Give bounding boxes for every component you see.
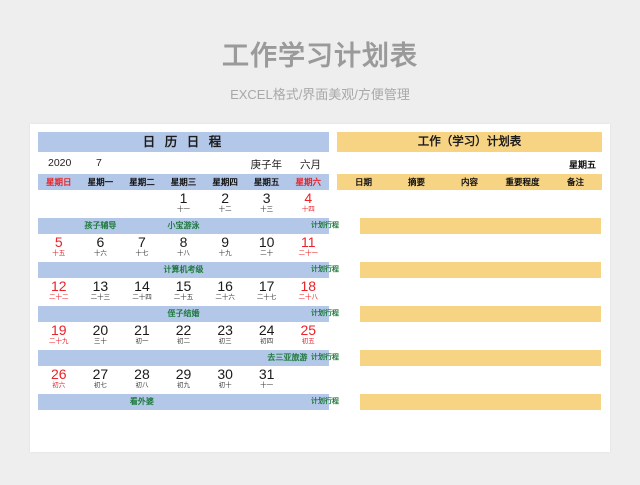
calendar-event-label[interactable]: 看外婆	[80, 394, 205, 410]
calendar-day-number: 7	[121, 235, 163, 250]
calendar-event-label[interactable]: 计算机考级	[80, 262, 288, 278]
calendar-event-row[interactable]: 看外婆	[38, 394, 329, 410]
calendar-day-lunar: 十三	[246, 206, 288, 214]
calendar-day-lunar: 初四	[246, 338, 288, 346]
plan-row: 计划行程	[337, 394, 602, 410]
calendar-date-row: 12二十二13二十三14二十四15二十五16二十六17二十七18二十八	[38, 278, 329, 306]
weekday-friday: 星期五	[246, 174, 288, 190]
calendar-day-cell[interactable]: 22初二	[163, 322, 205, 350]
plan-row-input-area[interactable]	[360, 262, 601, 278]
calendar-day-cell[interactable]: 26初六	[38, 366, 80, 394]
calendar-day-number: 15	[163, 279, 205, 294]
plan-weekday-label: 星期五	[569, 158, 596, 171]
calendar-day-lunar: 初七	[80, 382, 122, 390]
calendar-day-cell[interactable]: 25初五	[287, 322, 329, 350]
calendar-day-number: 28	[121, 367, 163, 382]
calendar-day-cell[interactable]	[121, 190, 163, 218]
calendar-day-cell[interactable]	[38, 190, 80, 218]
calendar-day-cell[interactable]: 6十六	[80, 234, 122, 262]
calendar-day-cell[interactable]: 21初一	[121, 322, 163, 350]
calendar-day-number: 24	[246, 323, 288, 338]
calendar-day-cell[interactable]: 13二十三	[80, 278, 122, 306]
plan-column-summary: 摘要	[390, 174, 443, 190]
calendar-day-lunar: 十四	[287, 206, 329, 214]
plan-column-remark: 备注	[549, 174, 602, 190]
calendar-day-number: 1	[163, 191, 205, 206]
calendar-day-number: 8	[163, 235, 205, 250]
calendar-day-number: 25	[287, 323, 329, 338]
weekday-thursday: 星期四	[204, 174, 246, 190]
calendar-day-lunar: 二十六	[204, 294, 246, 302]
plan-column-importance: 重要程度	[496, 174, 549, 190]
plan-meta: 星期五	[337, 152, 602, 174]
calendar-lunar-month-label: 六月	[300, 157, 321, 172]
calendar-day-number: 13	[80, 279, 122, 294]
calendar-day-cell[interactable]: 31十一	[246, 366, 288, 394]
calendar-day-lunar: 十一	[163, 206, 205, 214]
calendar-day-number: 22	[163, 323, 205, 338]
calendar-day-number: 14	[121, 279, 163, 294]
calendar-day-number: 19	[38, 323, 80, 338]
calendar-day-lunar: 初三	[204, 338, 246, 346]
calendar-day-number: 31	[246, 367, 288, 382]
calendar-day-cell[interactable]: 29初九	[163, 366, 205, 394]
plan-row-label: 计划行程	[311, 262, 351, 278]
plan-row: 计划行程	[337, 262, 602, 278]
calendar-day-lunar: 十一	[246, 382, 288, 390]
plan-row-input-area[interactable]	[360, 218, 601, 234]
calendar-event-row[interactable]: 孩子辅导小宝游泳	[38, 218, 329, 234]
calendar-day-number: 30	[204, 367, 246, 382]
calendar-day-lunar: 初八	[121, 382, 163, 390]
calendar-day-lunar: 二十九	[38, 338, 80, 346]
page-title: 工作学习计划表	[0, 34, 640, 73]
calendar-month-value[interactable]: 7	[96, 157, 102, 169]
plan-row-label: 计划行程	[311, 218, 351, 234]
calendar-day-cell[interactable]	[287, 366, 329, 394]
plan-row: 计划行程	[337, 306, 602, 322]
calendar-day-number: 18	[287, 279, 329, 294]
calendar-day-cell[interactable]: 12二十二	[38, 278, 80, 306]
calendar-day-lunar: 初五	[287, 338, 329, 346]
calendar-day-cell[interactable]: 4十四	[287, 190, 329, 218]
calendar-day-cell[interactable]: 11二十一	[287, 234, 329, 262]
calendar-day-cell[interactable]: 14二十四	[121, 278, 163, 306]
calendar-day-number: 27	[80, 367, 122, 382]
calendar-day-number: 2	[204, 191, 246, 206]
calendar-day-lunar: 二十三	[80, 294, 122, 302]
calendar-day-lunar: 三十	[80, 338, 122, 346]
calendar-day-cell[interactable]: 7十七	[121, 234, 163, 262]
calendar-day-number: 10	[246, 235, 288, 250]
calendar-day-number: 9	[204, 235, 246, 250]
plan-column-date: 日期	[337, 174, 390, 190]
calendar-day-lunar: 二十七	[246, 294, 288, 302]
calendar-day-lunar: 二十四	[121, 294, 163, 302]
calendar-day-cell[interactable]: 19二十九	[38, 322, 80, 350]
plan-column-header-row: 日期 摘要 内容 重要程度 备注	[337, 174, 602, 190]
weekday-saturday: 星期六	[287, 174, 329, 190]
calendar-day-number: 5	[38, 235, 80, 250]
plan-row: 计划行程	[337, 218, 602, 234]
calendar-day-cell[interactable]: 15二十五	[163, 278, 205, 306]
calendar-event-row[interactable]: 去三亚旅游	[38, 350, 329, 366]
calendar-day-lunar: 十二	[204, 206, 246, 214]
plan-row-input-area[interactable]	[360, 350, 601, 366]
calendar-day-number: 26	[38, 367, 80, 382]
calendar-day-lunar: 初九	[163, 382, 205, 390]
calendar-date-row: 5十五6十六7十七8十八9十九10二十11二十一	[38, 234, 329, 262]
calendar-day-cell[interactable]: 8十八	[163, 234, 205, 262]
calendar-day-number: 4	[287, 191, 329, 206]
calendar-title: 日 历 日 程	[38, 132, 329, 152]
calendar-event-label[interactable]: 小宝游泳	[163, 218, 205, 234]
calendar-day-cell[interactable]: 28初八	[121, 366, 163, 394]
plan-row: 计划行程	[337, 350, 602, 366]
plan-section: 工作（学习）计划表 星期五 日期 摘要 内容 重要程度 备注 计划行程计划行程计…	[337, 132, 602, 190]
calendar-date-row: 19二十九20三十21初一22初二23初三24初四25初五	[38, 322, 329, 350]
calendar-day-number: 20	[80, 323, 122, 338]
calendar-day-number: 21	[121, 323, 163, 338]
calendar-day-cell[interactable]: 10二十	[246, 234, 288, 262]
weekday-wednesday: 星期三	[163, 174, 205, 190]
calendar-day-lunar: 二十二	[38, 294, 80, 302]
calendar-day-cell[interactable]: 18二十八	[287, 278, 329, 306]
calendar-day-cell[interactable]: 24初四	[246, 322, 288, 350]
calendar-day-lunar: 十九	[204, 250, 246, 258]
calendar-day-lunar: 二十一	[287, 250, 329, 258]
calendar-day-lunar: 初六	[38, 382, 80, 390]
calendar-day-cell[interactable]: 17二十七	[246, 278, 288, 306]
calendar-day-number: 3	[246, 191, 288, 206]
plan-column-content: 内容	[443, 174, 496, 190]
calendar-day-cell[interactable]: 23初三	[204, 322, 246, 350]
calendar-year-value[interactable]: 2020	[48, 157, 71, 169]
calendar-day-number: 16	[204, 279, 246, 294]
calendar-event-label[interactable]: 侄子结婚	[121, 306, 246, 322]
calendar-day-cell[interactable]: 3十三	[246, 190, 288, 218]
calendar-body: 1十一2十二3十三4十四孩子辅导小宝游泳5十五6十六7十七8十八9十九10二十1…	[38, 190, 329, 410]
calendar-day-lunar: 十六	[80, 250, 122, 258]
calendar-day-lunar: 二十八	[287, 294, 329, 302]
calendar-day-lunar: 十五	[38, 250, 80, 258]
calendar-day-lunar: 初一	[121, 338, 163, 346]
calendar-day-lunar: 初二	[163, 338, 205, 346]
calendar-day-lunar: 十八	[163, 250, 205, 258]
calendar-day-cell[interactable]: 5十五	[38, 234, 80, 262]
plan-row-label: 计划行程	[311, 350, 351, 366]
calendar-event-row[interactable]: 侄子结婚	[38, 306, 329, 322]
calendar-day-cell[interactable]: 9十九	[204, 234, 246, 262]
calendar-day-lunar: 初十	[204, 382, 246, 390]
calendar-day-number: 11	[287, 235, 329, 250]
weekday-header-row: 星期日 星期一 星期二 星期三 星期四 星期五 星期六	[38, 174, 329, 190]
calendar-day-number: 6	[80, 235, 122, 250]
calendar-date-row: 1十一2十二3十三4十四	[38, 190, 329, 218]
page-subtitle: EXCEL格式/界面美观/方便管理	[0, 84, 640, 103]
calendar-day-cell[interactable]: 16二十六	[204, 278, 246, 306]
sheet-card: 日 历 日 程 2020 7 庚子年 六月 星期日 星期一 星期二 星期三 星期…	[30, 124, 610, 452]
calendar-day-cell[interactable]	[80, 190, 122, 218]
plan-row-input-area[interactable]	[360, 394, 601, 410]
calendar-day-number: 17	[246, 279, 288, 294]
calendar-day-cell[interactable]: 2十二	[204, 190, 246, 218]
calendar-day-cell[interactable]: 20三十	[80, 322, 122, 350]
calendar-day-cell[interactable]: 30初十	[204, 366, 246, 394]
plan-row-input-area[interactable]	[360, 306, 601, 322]
plan-row-label: 计划行程	[311, 394, 351, 410]
calendar-day-number: 23	[204, 323, 246, 338]
plan-row-label: 计划行程	[311, 306, 351, 322]
weekday-tuesday: 星期二	[121, 174, 163, 190]
calendar-ganzhi-year-label: 庚子年	[251, 157, 283, 172]
calendar-day-number: 29	[163, 367, 205, 382]
weekday-sunday: 星期日	[38, 174, 80, 190]
calendar-day-lunar: 十七	[121, 250, 163, 258]
calendar-event-row[interactable]: 计算机考级	[38, 262, 329, 278]
calendar-meta: 2020 7 庚子年 六月	[38, 152, 329, 174]
calendar-date-row: 26初六27初七28初八29初九30初十31十一	[38, 366, 329, 394]
calendar-day-lunar: 二十	[246, 250, 288, 258]
calendar-day-cell[interactable]: 27初七	[80, 366, 122, 394]
calendar-section: 日 历 日 程 2020 7 庚子年 六月 星期日 星期一 星期二 星期三 星期…	[38, 132, 329, 410]
calendar-day-cell[interactable]: 1十一	[163, 190, 205, 218]
calendar-day-number: 12	[38, 279, 80, 294]
weekday-monday: 星期一	[80, 174, 122, 190]
calendar-event-label[interactable]: 孩子辅导	[80, 218, 122, 234]
calendar-day-lunar: 二十五	[163, 294, 205, 302]
plan-title: 工作（学习）计划表	[337, 132, 602, 152]
